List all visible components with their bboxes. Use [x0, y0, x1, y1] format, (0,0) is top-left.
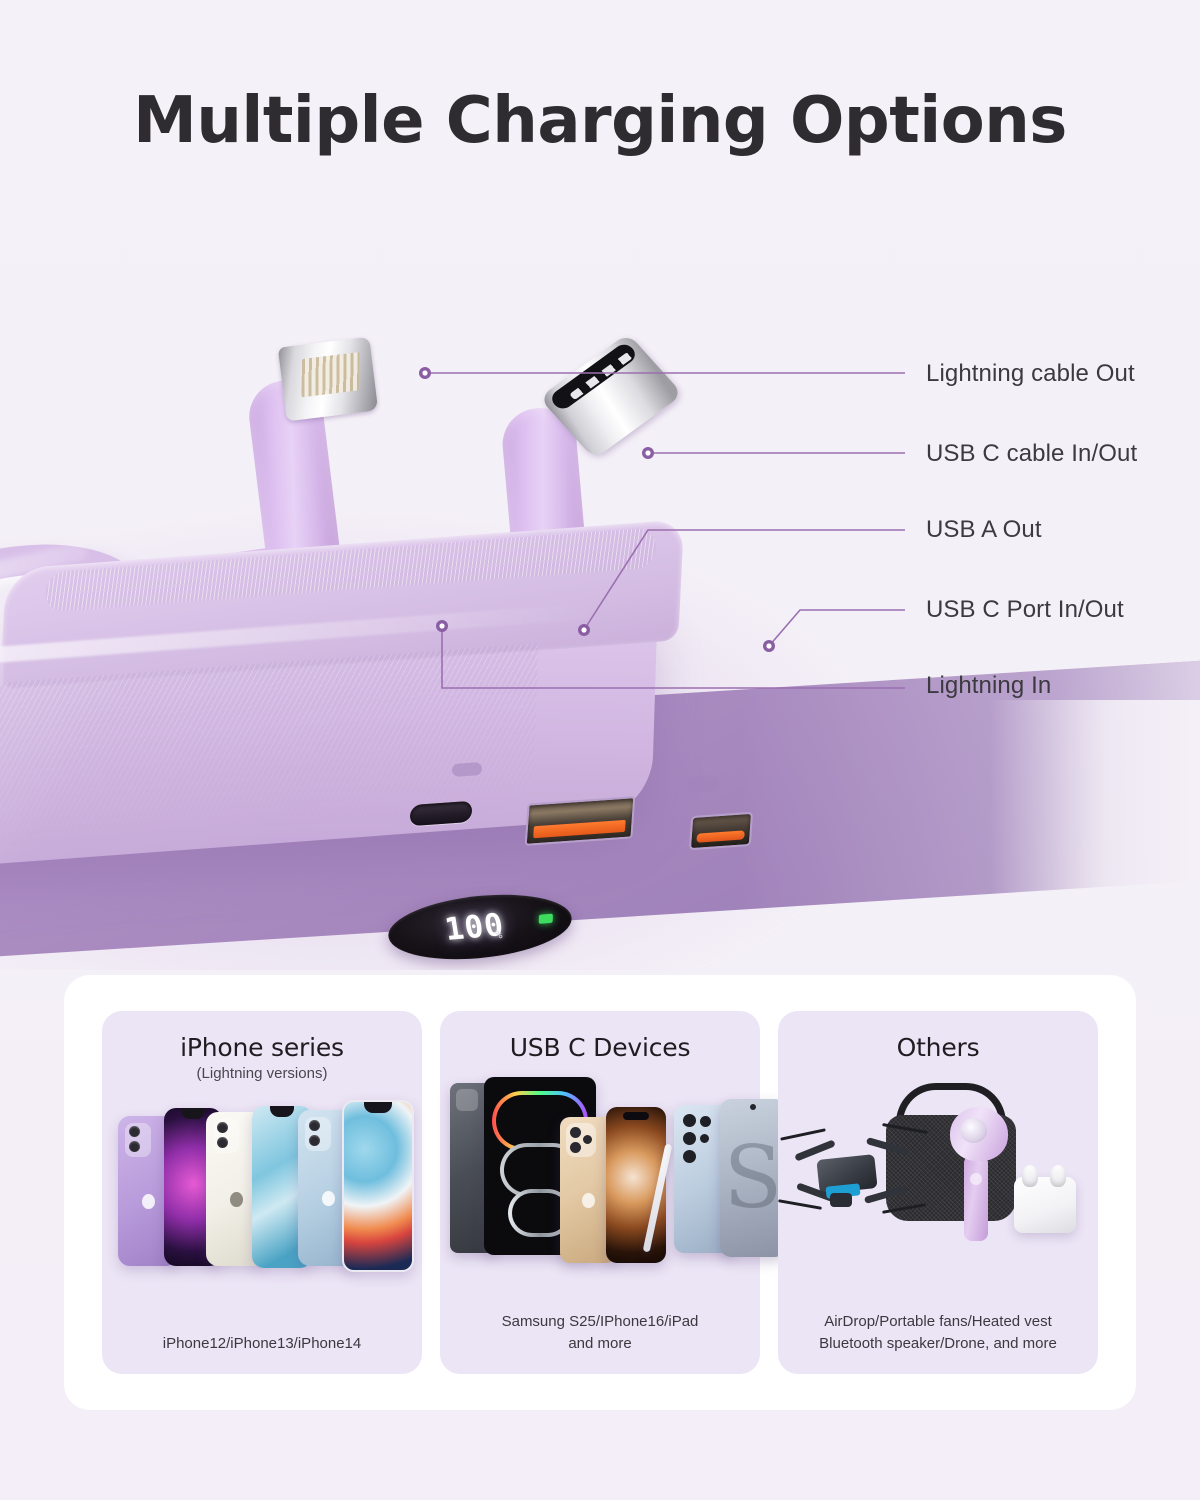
product-hero: 100 % [0, 180, 1200, 970]
callout-label-lightning-cable-out: Lightning cable Out [926, 360, 1135, 388]
card-caption-line: Samsung S25/IPhone16/iPad [502, 1311, 699, 1332]
card-caption: AirDrop/Portable fans/Heated vest Blueto… [809, 1311, 1067, 1374]
camera-module-icon [213, 1119, 239, 1153]
apple-logo-icon [142, 1194, 155, 1209]
camera-module-icon [305, 1117, 331, 1151]
card-caption-line: and more [502, 1333, 699, 1354]
drone-propeller-icon [778, 1199, 822, 1210]
card-title: Others [897, 1033, 980, 1062]
callout-label-usb-c-cable-in-out: USB C cable In/Out [926, 440, 1137, 468]
callout-label-usb-a-out: USB A Out [926, 516, 1042, 544]
compat-card-iphone-series: iPhone series (Lightning versions) [102, 1011, 422, 1374]
notch-icon [364, 1102, 391, 1113]
compatibility-panel: iPhone series (Lightning versions) [64, 975, 1136, 1410]
drone-camera-icon [830, 1193, 852, 1207]
lightning-connector-icon [278, 337, 378, 422]
callout-label-usb-c-port-in-out: USB C Port In/Out [926, 596, 1124, 624]
shadow-fade [990, 700, 1200, 970]
page-title: Multiple Charging Options [0, 84, 1200, 158]
usb-a-tongue [533, 820, 626, 839]
camera-module-icon [456, 1089, 478, 1111]
apple-logo-icon [230, 1192, 243, 1207]
callout-label-lightning-in: Lightning In [926, 672, 1051, 700]
callout-dot-lightning-cable-out [419, 367, 431, 379]
camera-module-icon [125, 1123, 151, 1157]
card-caption: Samsung S25/IPhone16/iPad and more [492, 1311, 709, 1374]
dynamic-island-icon [623, 1112, 649, 1120]
callout-dot-core [645, 450, 650, 455]
callout-dot-usb-c-cable-in-out [642, 447, 654, 459]
compat-card-others: Others [778, 1011, 1098, 1374]
battery-percent-unit: % [495, 928, 504, 941]
card-caption-line: AirDrop/Portable fans/Heated vest [819, 1311, 1057, 1332]
apple-logo-icon [322, 1191, 335, 1206]
card-artwork-other-devices [778, 1065, 1098, 1311]
deck-vent-slot [685, 775, 720, 793]
deck-vent-slot [452, 762, 483, 777]
camera-module-icon [566, 1123, 596, 1157]
card-caption: iPhone12/iPhone13/iPhone14 [153, 1333, 372, 1374]
airpod-right-icon [1050, 1165, 1066, 1187]
card-caption-line: iPhone12/iPhone13/iPhone14 [163, 1333, 362, 1354]
samsung-s25-display: S [720, 1099, 786, 1257]
notch-icon [181, 1108, 204, 1119]
card-artwork-iphones [102, 1082, 422, 1333]
portable-fan-head-icon [950, 1107, 1008, 1161]
card-subtitle: (Lightning versions) [197, 1065, 328, 1082]
airpod-left-icon [1022, 1165, 1038, 1187]
punch-hole-camera-icon [750, 1104, 756, 1110]
drone-propeller-icon [780, 1128, 826, 1140]
apple-logo-icon [582, 1193, 595, 1208]
iphone-14-display [342, 1100, 414, 1272]
usb-c-in-out-port [689, 812, 753, 851]
samsung-s-wallpaper: S [724, 1135, 783, 1221]
infographic-page: Multiple Charging Options [0, 0, 1200, 1500]
card-title: iPhone series [180, 1033, 344, 1062]
usb-a-out-port [525, 796, 636, 846]
card-caption-line: Bluetooth speaker/Drone, and more [819, 1333, 1057, 1354]
fan-button-icon [970, 1173, 982, 1185]
notch-icon [270, 1106, 294, 1117]
lightning-connector-pins [301, 352, 359, 397]
airpods-case-icon [1014, 1177, 1076, 1233]
callout-dot-core [422, 370, 427, 375]
compat-card-usb-c-devices: USB C Devices [440, 1011, 760, 1374]
card-title: USB C Devices [510, 1033, 691, 1062]
usb-c-tongue [696, 830, 745, 842]
camera-module-icon [683, 1114, 713, 1168]
status-led-icon [539, 914, 553, 924]
portable-fan-handle-icon [964, 1155, 988, 1241]
card-artwork-usb-c-devices: S [440, 1065, 760, 1311]
